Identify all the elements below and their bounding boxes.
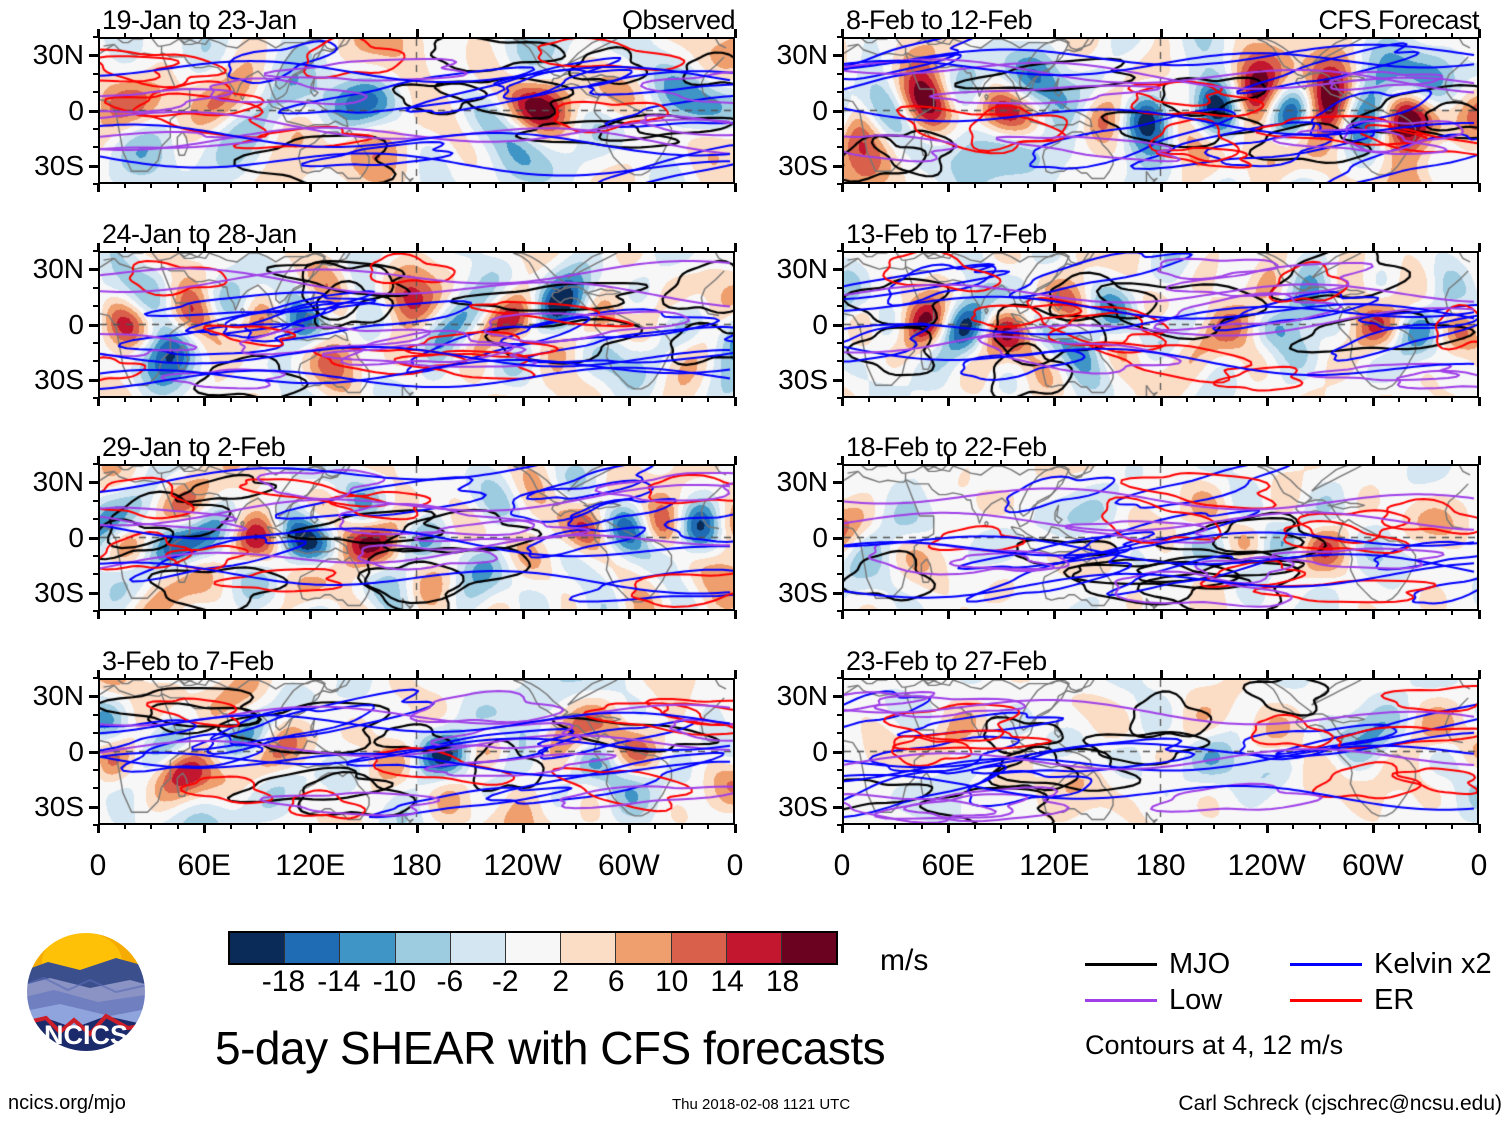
x-major-tick xyxy=(1160,243,1163,252)
x-minor-tick xyxy=(256,460,258,465)
y-minor-tick xyxy=(93,146,99,148)
x-minor-tick xyxy=(442,247,444,252)
x-minor-tick xyxy=(1292,33,1294,38)
x-minor-tick xyxy=(974,33,976,38)
x-minor-tick xyxy=(894,397,896,402)
x-major-tick xyxy=(734,610,737,619)
x-minor-tick xyxy=(1451,610,1453,615)
x-major-tick xyxy=(203,610,206,619)
y-minor-tick xyxy=(837,573,843,575)
y-minor-tick xyxy=(93,342,99,344)
x-minor-tick xyxy=(230,610,232,615)
y-minor-tick xyxy=(93,128,99,130)
kelvin-line-icon xyxy=(1290,963,1362,966)
y-axis-label-30S: 30S xyxy=(0,791,84,823)
x-minor-tick xyxy=(389,183,391,188)
x-minor-tick xyxy=(601,397,603,402)
x-major-tick xyxy=(309,397,312,406)
map-panel-fcst-2[interactable] xyxy=(842,251,1479,398)
x-major-tick xyxy=(1478,183,1481,192)
er-line-icon xyxy=(1290,999,1362,1002)
x-major-tick xyxy=(1266,456,1269,465)
x-major-tick xyxy=(1160,610,1163,619)
x-major-tick xyxy=(309,29,312,38)
x-minor-tick xyxy=(654,674,656,679)
y-minor-tick xyxy=(837,305,843,307)
x-minor-tick xyxy=(868,824,870,829)
x-major-tick xyxy=(947,824,950,833)
x-minor-tick xyxy=(1239,33,1241,38)
x-major-tick xyxy=(628,456,631,465)
x-minor-tick xyxy=(654,183,656,188)
x-minor-tick xyxy=(654,460,656,465)
x-axis-label-120W: 120W xyxy=(463,849,583,883)
x-minor-tick xyxy=(575,824,577,829)
x-major-tick xyxy=(1478,29,1481,38)
y-tick-mark xyxy=(89,110,99,113)
y-tick-mark xyxy=(833,751,843,754)
x-minor-tick xyxy=(230,183,232,188)
shear-anomaly-field-obs-3 xyxy=(100,466,733,609)
mjo-line-icon xyxy=(1085,963,1157,966)
x-minor-tick xyxy=(1292,824,1294,829)
x-minor-tick xyxy=(230,397,232,402)
x-minor-tick xyxy=(495,460,497,465)
y-minor-tick xyxy=(93,500,99,502)
x-major-tick xyxy=(309,243,312,252)
x-minor-tick xyxy=(1080,824,1082,829)
x-minor-tick xyxy=(1239,610,1241,615)
x-minor-tick xyxy=(1106,824,1108,829)
shear-anomaly-field-fcst-4 xyxy=(844,680,1477,823)
contour-legend: MJO Kelvin x2 Low ER xyxy=(1085,946,1505,1018)
legend-item-kelvin: Kelvin x2 xyxy=(1290,948,1495,981)
x-minor-tick xyxy=(1027,397,1029,402)
x-major-tick xyxy=(1372,824,1375,833)
x-minor-tick xyxy=(469,674,471,679)
x-minor-tick xyxy=(389,824,391,829)
x-axis-label-120E: 120E xyxy=(250,849,370,883)
x-minor-tick xyxy=(1398,824,1400,829)
x-minor-tick xyxy=(974,674,976,679)
x-minor-tick xyxy=(256,33,258,38)
x-minor-tick xyxy=(681,460,683,465)
x-minor-tick xyxy=(1213,33,1215,38)
x-minor-tick xyxy=(1080,674,1082,679)
x-major-tick xyxy=(1372,183,1375,192)
x-major-tick xyxy=(1372,243,1375,252)
shear-anomaly-field-fcst-2 xyxy=(844,253,1477,396)
x-major-tick xyxy=(416,824,419,833)
x-minor-tick xyxy=(575,460,577,465)
x-major-tick xyxy=(628,243,631,252)
x-minor-tick xyxy=(469,33,471,38)
shear-anomaly-field-obs-4 xyxy=(100,680,733,823)
x-minor-tick xyxy=(1186,33,1188,38)
x-minor-tick xyxy=(894,247,896,252)
map-panel-obs-3[interactable] xyxy=(98,464,735,611)
x-major-tick xyxy=(1266,670,1269,679)
y-axis-label-30N: 30N xyxy=(742,466,828,498)
x-minor-tick xyxy=(442,183,444,188)
x-major-tick xyxy=(309,610,312,619)
x-major-tick xyxy=(522,670,525,679)
y-axis-label-30N: 30N xyxy=(0,39,84,71)
x-minor-tick xyxy=(124,610,126,615)
x-minor-tick xyxy=(1000,824,1002,829)
y-axis-label-30N: 30N xyxy=(742,680,828,712)
x-minor-tick xyxy=(336,610,338,615)
x-minor-tick xyxy=(921,610,923,615)
x-axis-label-180: 180 xyxy=(1101,849,1221,883)
x-minor-tick xyxy=(894,610,896,615)
x-major-tick xyxy=(1266,397,1269,406)
y-tick-mark xyxy=(89,54,99,57)
x-minor-tick xyxy=(1027,247,1029,252)
x-major-tick xyxy=(522,29,525,38)
colorbar-tick--10: -10 xyxy=(373,965,416,999)
x-major-tick xyxy=(203,183,206,192)
x-minor-tick xyxy=(1451,183,1453,188)
x-minor-tick xyxy=(389,610,391,615)
x-minor-tick xyxy=(1319,33,1321,38)
x-minor-tick xyxy=(336,674,338,679)
x-minor-tick xyxy=(177,674,179,679)
y-axis-label-0: 0 xyxy=(742,736,828,768)
x-major-tick xyxy=(203,397,206,406)
x-minor-tick xyxy=(1451,824,1453,829)
x-minor-tick xyxy=(575,610,577,615)
x-minor-tick xyxy=(495,674,497,679)
y-tick-mark xyxy=(89,592,99,595)
x-major-tick xyxy=(416,243,419,252)
x-major-tick xyxy=(628,670,631,679)
x-major-tick xyxy=(1372,456,1375,465)
x-major-tick xyxy=(1160,456,1163,465)
x-major-tick xyxy=(734,243,737,252)
legend-label-low: Low xyxy=(1169,984,1222,1017)
x-minor-tick xyxy=(1133,610,1135,615)
x-minor-tick xyxy=(1213,610,1215,615)
x-major-tick xyxy=(628,397,631,406)
y-axis-label-30N: 30N xyxy=(742,39,828,71)
x-minor-tick xyxy=(1345,674,1347,679)
x-minor-tick xyxy=(256,824,258,829)
x-minor-tick xyxy=(1239,824,1241,829)
y-minor-tick xyxy=(837,769,843,771)
y-axis-label-30S: 30S xyxy=(0,150,84,182)
x-major-tick xyxy=(734,824,737,833)
x-minor-tick xyxy=(1027,460,1029,465)
x-minor-tick xyxy=(1239,674,1241,679)
x-minor-tick xyxy=(654,824,656,829)
x-minor-tick xyxy=(1213,674,1215,679)
y-minor-tick xyxy=(93,769,99,771)
map-panel-obs-2[interactable] xyxy=(98,251,735,398)
x-minor-tick xyxy=(921,33,923,38)
map-panel-obs-1[interactable] xyxy=(98,37,735,184)
x-minor-tick xyxy=(495,247,497,252)
x-minor-tick xyxy=(362,824,364,829)
y-tick-mark xyxy=(89,751,99,754)
x-minor-tick xyxy=(1133,33,1135,38)
y-axis-label-0: 0 xyxy=(742,522,828,554)
x-major-tick xyxy=(628,610,631,619)
y-minor-tick xyxy=(93,360,99,362)
ncics-logo: NCICS xyxy=(20,928,152,1060)
x-minor-tick xyxy=(1451,460,1453,465)
x-minor-tick xyxy=(495,824,497,829)
y-axis-label-30S: 30S xyxy=(742,791,828,823)
x-minor-tick xyxy=(1186,824,1188,829)
x-minor-tick xyxy=(1425,183,1427,188)
x-minor-tick xyxy=(283,183,285,188)
x-minor-tick xyxy=(707,674,709,679)
y-tick-mark xyxy=(89,695,99,698)
x-minor-tick xyxy=(495,33,497,38)
x-major-tick xyxy=(1053,456,1056,465)
x-minor-tick xyxy=(1292,183,1294,188)
x-minor-tick xyxy=(1000,610,1002,615)
x-major-tick xyxy=(416,670,419,679)
y-minor-tick xyxy=(837,787,843,789)
x-minor-tick xyxy=(1186,610,1188,615)
x-major-tick xyxy=(1053,243,1056,252)
colorbar-swatch-2 xyxy=(340,933,395,963)
x-minor-tick xyxy=(442,33,444,38)
x-minor-tick xyxy=(974,610,976,615)
x-major-tick xyxy=(628,29,631,38)
y-tick-mark xyxy=(89,324,99,327)
x-minor-tick xyxy=(150,610,152,615)
footer-site-link[interactable]: ncics.org/mjo xyxy=(8,1092,126,1115)
y-tick-mark xyxy=(89,481,99,484)
x-major-tick xyxy=(522,397,525,406)
x-major-tick xyxy=(203,824,206,833)
x-major-tick xyxy=(1053,610,1056,619)
low-line-icon xyxy=(1085,999,1157,1002)
x-minor-tick xyxy=(1239,397,1241,402)
x-minor-tick xyxy=(256,247,258,252)
x-minor-tick xyxy=(469,610,471,615)
x-minor-tick xyxy=(177,247,179,252)
x-minor-tick xyxy=(150,674,152,679)
x-minor-tick xyxy=(974,460,976,465)
x-minor-tick xyxy=(230,824,232,829)
x-axis-label-60E: 60E xyxy=(144,849,264,883)
x-minor-tick xyxy=(868,247,870,252)
x-minor-tick xyxy=(1213,247,1215,252)
x-major-tick xyxy=(309,670,312,679)
x-minor-tick xyxy=(1000,33,1002,38)
x-minor-tick xyxy=(601,610,603,615)
colorbar-swatch-10 xyxy=(782,933,836,963)
x-major-tick xyxy=(309,824,312,833)
x-minor-tick xyxy=(707,460,709,465)
x-minor-tick xyxy=(150,183,152,188)
x-minor-tick xyxy=(575,247,577,252)
x-minor-tick xyxy=(868,33,870,38)
x-major-tick xyxy=(416,397,419,406)
colorbar-tick-18: 18 xyxy=(766,965,799,999)
x-minor-tick xyxy=(256,610,258,615)
y-minor-tick xyxy=(93,714,99,716)
colorbar-swatch-3 xyxy=(396,933,451,963)
x-major-tick xyxy=(1266,183,1269,192)
x-minor-tick xyxy=(707,610,709,615)
x-major-tick xyxy=(522,610,525,619)
x-major-tick xyxy=(97,610,100,619)
colorbar-swatches xyxy=(228,931,838,965)
x-minor-tick xyxy=(389,460,391,465)
x-minor-tick xyxy=(1213,460,1215,465)
x-major-tick xyxy=(1478,243,1481,252)
x-major-tick xyxy=(1478,610,1481,619)
y-minor-tick xyxy=(837,146,843,148)
x-major-tick xyxy=(1266,824,1269,833)
x-minor-tick xyxy=(230,460,232,465)
x-minor-tick xyxy=(1398,674,1400,679)
y-tick-mark xyxy=(833,592,843,595)
x-minor-tick xyxy=(442,674,444,679)
x-minor-tick xyxy=(868,183,870,188)
x-minor-tick xyxy=(1425,247,1427,252)
x-minor-tick xyxy=(868,674,870,679)
contour-interval-note: Contours at 4, 12 m/s xyxy=(1085,1030,1343,1061)
x-major-tick xyxy=(841,397,844,406)
x-minor-tick xyxy=(1345,824,1347,829)
y-axis-label-0: 0 xyxy=(0,309,84,341)
y-minor-tick xyxy=(837,714,843,716)
x-minor-tick xyxy=(1425,33,1427,38)
x-minor-tick xyxy=(707,824,709,829)
x-minor-tick xyxy=(1345,33,1347,38)
x-minor-tick xyxy=(1425,460,1427,465)
map-panel-fcst-1[interactable] xyxy=(842,37,1479,184)
x-major-tick xyxy=(947,243,950,252)
colorbar-swatch-9 xyxy=(727,933,782,963)
x-minor-tick xyxy=(124,397,126,402)
x-minor-tick xyxy=(894,460,896,465)
colorbar-swatch-4 xyxy=(451,933,506,963)
x-major-tick xyxy=(97,29,100,38)
map-panel-fcst-4[interactable] xyxy=(842,678,1479,825)
x-major-tick xyxy=(1478,670,1481,679)
x-minor-tick xyxy=(921,824,923,829)
x-minor-tick xyxy=(442,397,444,402)
legend-row: MJO Kelvin x2 xyxy=(1085,946,1505,982)
x-minor-tick xyxy=(124,33,126,38)
x-major-tick xyxy=(97,183,100,192)
x-minor-tick xyxy=(150,824,152,829)
legend-row: Low ER xyxy=(1085,982,1505,1018)
colorbar-tick--14: -14 xyxy=(317,965,360,999)
x-minor-tick xyxy=(124,460,126,465)
y-tick-mark xyxy=(89,537,99,540)
y-minor-tick xyxy=(93,287,99,289)
x-major-tick xyxy=(97,824,100,833)
y-minor-tick xyxy=(837,360,843,362)
x-minor-tick xyxy=(442,610,444,615)
x-minor-tick xyxy=(1345,397,1347,402)
x-minor-tick xyxy=(1106,33,1108,38)
colorbar-swatch-7 xyxy=(616,933,671,963)
x-minor-tick xyxy=(575,33,577,38)
map-panel-obs-4[interactable] xyxy=(98,678,735,825)
x-minor-tick xyxy=(707,183,709,188)
x-minor-tick xyxy=(442,460,444,465)
x-minor-tick xyxy=(336,397,338,402)
x-minor-tick xyxy=(707,33,709,38)
x-minor-tick xyxy=(1213,824,1215,829)
x-major-tick xyxy=(1266,243,1269,252)
x-minor-tick xyxy=(442,824,444,829)
shear-anomaly-field-obs-1 xyxy=(100,39,733,182)
x-minor-tick xyxy=(1425,610,1427,615)
map-panel-fcst-3[interactable] xyxy=(842,464,1479,611)
x-minor-tick xyxy=(575,674,577,679)
x-minor-tick xyxy=(150,460,152,465)
panel-title-obs-2: 24-Jan to 28-Jan xyxy=(102,219,297,250)
x-minor-tick xyxy=(681,33,683,38)
x-minor-tick xyxy=(1451,674,1453,679)
colorbar-tick--6: -6 xyxy=(436,965,463,999)
x-minor-tick xyxy=(1027,183,1029,188)
x-minor-tick xyxy=(681,824,683,829)
x-major-tick xyxy=(309,456,312,465)
x-minor-tick xyxy=(681,610,683,615)
x-major-tick xyxy=(522,243,525,252)
y-axis-label-30N: 30N xyxy=(0,253,84,285)
x-minor-tick xyxy=(389,674,391,679)
x-major-tick xyxy=(1053,397,1056,406)
y-minor-tick xyxy=(837,128,843,130)
y-minor-tick xyxy=(837,73,843,75)
x-minor-tick xyxy=(548,33,550,38)
x-minor-tick xyxy=(495,183,497,188)
x-minor-tick xyxy=(362,247,364,252)
x-minor-tick xyxy=(1186,247,1188,252)
x-minor-tick xyxy=(894,824,896,829)
x-major-tick xyxy=(1160,670,1163,679)
x-minor-tick xyxy=(1319,183,1321,188)
colorbar-swatch-6 xyxy=(561,933,616,963)
y-tick-mark xyxy=(89,379,99,382)
x-major-tick xyxy=(734,29,737,38)
y-minor-tick xyxy=(837,732,843,734)
y-minor-tick xyxy=(837,500,843,502)
x-minor-tick xyxy=(469,460,471,465)
x-minor-tick xyxy=(1398,183,1400,188)
x-minor-tick xyxy=(548,824,550,829)
footer-timestamp: Thu 2018-02-08 1121 UTC xyxy=(672,1096,850,1113)
x-minor-tick xyxy=(894,33,896,38)
x-major-tick xyxy=(947,456,950,465)
x-minor-tick xyxy=(1000,183,1002,188)
x-minor-tick xyxy=(1239,247,1241,252)
x-minor-tick xyxy=(548,397,550,402)
x-major-tick xyxy=(841,456,844,465)
x-minor-tick xyxy=(1213,183,1215,188)
x-minor-tick xyxy=(256,183,258,188)
x-major-tick xyxy=(97,670,100,679)
x-major-tick xyxy=(1053,183,1056,192)
y-axis-label-0: 0 xyxy=(0,95,84,127)
x-axis-label-60E: 60E xyxy=(888,849,1008,883)
y-axis-label-0: 0 xyxy=(0,522,84,554)
y-tick-mark xyxy=(833,379,843,382)
x-major-tick xyxy=(203,243,206,252)
